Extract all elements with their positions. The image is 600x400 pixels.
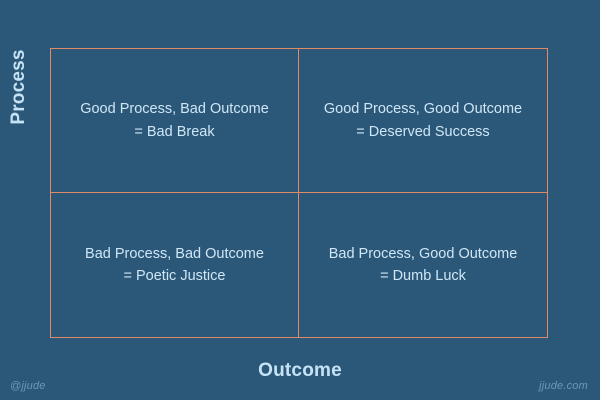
quadrant-line-secondary: = Bad Break [134,121,214,143]
quadrant-good-process-bad-outcome: Good Process, Bad Outcome = Bad Break [51,49,299,193]
x-axis-label-outcome: Outcome [0,360,600,382]
quadrant-bad-process-good-outcome: Bad Process, Good Outcome = Dumb Luck [299,193,547,337]
quadrant-grid: Good Process, Bad Outcome = Bad Break Go… [50,48,548,338]
quadrant-line-secondary: = Deserved Success [356,121,489,143]
quadrant-line-secondary: = Dumb Luck [380,265,466,287]
watermark-handle: @jjude [10,380,46,392]
quadrant-good-process-good-outcome: Good Process, Good Outcome = Deserved Su… [299,49,547,193]
quadrant-bad-process-bad-outcome: Bad Process, Bad Outcome = Poetic Justic… [51,193,299,337]
quadrant-line-primary: Good Process, Bad Outcome [80,98,269,120]
quadrant-line-primary: Good Process, Good Outcome [324,98,522,120]
watermark-website: jjude.com [539,380,588,392]
quadrant-line-primary: Bad Process, Bad Outcome [85,243,264,265]
matrix-canvas: Process Good Process, Bad Outcome = Bad … [0,0,600,400]
quadrant-line-secondary: = Poetic Justice [124,265,226,287]
y-axis-label-process: Process [6,22,32,152]
quadrant-line-primary: Bad Process, Good Outcome [329,243,518,265]
